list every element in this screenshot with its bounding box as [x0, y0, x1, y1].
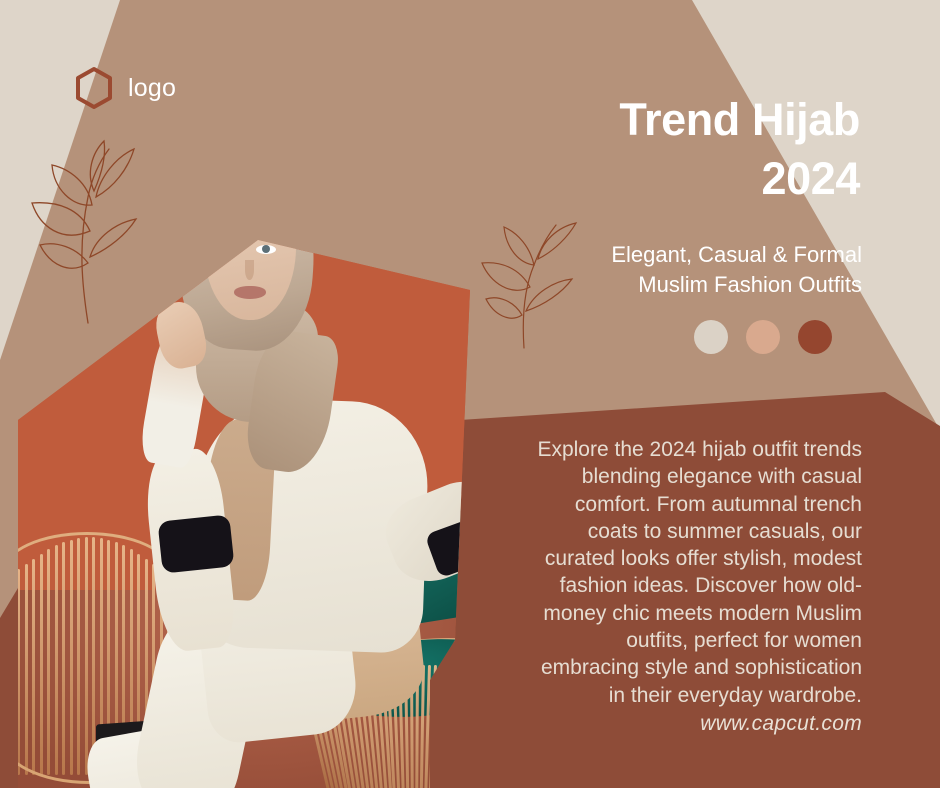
headline-line-1: Trend Hijab [619, 94, 860, 145]
model-sleeve-left-black-block [157, 514, 234, 573]
logo[interactable]: logo [74, 66, 176, 110]
headline-line-2: 2024 [440, 149, 860, 208]
beige-shape-top-right [640, 0, 940, 430]
model-lips [234, 286, 266, 299]
body-copy: Explore the 2024 hijab outfit trends ble… [532, 436, 862, 709]
page-title: Trend Hijab 2024 [440, 90, 860, 209]
swatch-rust[interactable] [798, 320, 832, 354]
subtitle-line-2: Muslim Fashion Outfits [462, 270, 862, 300]
poster-canvas: logo Trend Hijab 2024 Elegant, Casual & … [0, 0, 940, 788]
subtitle: Elegant, Casual & Formal Muslim Fashion … [462, 240, 862, 299]
leaf-left-icon [10, 135, 160, 325]
swatch-cream[interactable] [694, 320, 728, 354]
model-nose [245, 260, 254, 280]
logo-text: logo [128, 74, 176, 103]
model-pupil-right [262, 245, 270, 253]
color-swatch-group [694, 320, 832, 354]
footer-url[interactable]: www.capcut.com [532, 712, 862, 736]
hexagon-outline-icon [74, 66, 114, 110]
swatch-tan[interactable] [746, 320, 780, 354]
subtitle-line-1: Elegant, Casual & Formal [462, 240, 862, 270]
